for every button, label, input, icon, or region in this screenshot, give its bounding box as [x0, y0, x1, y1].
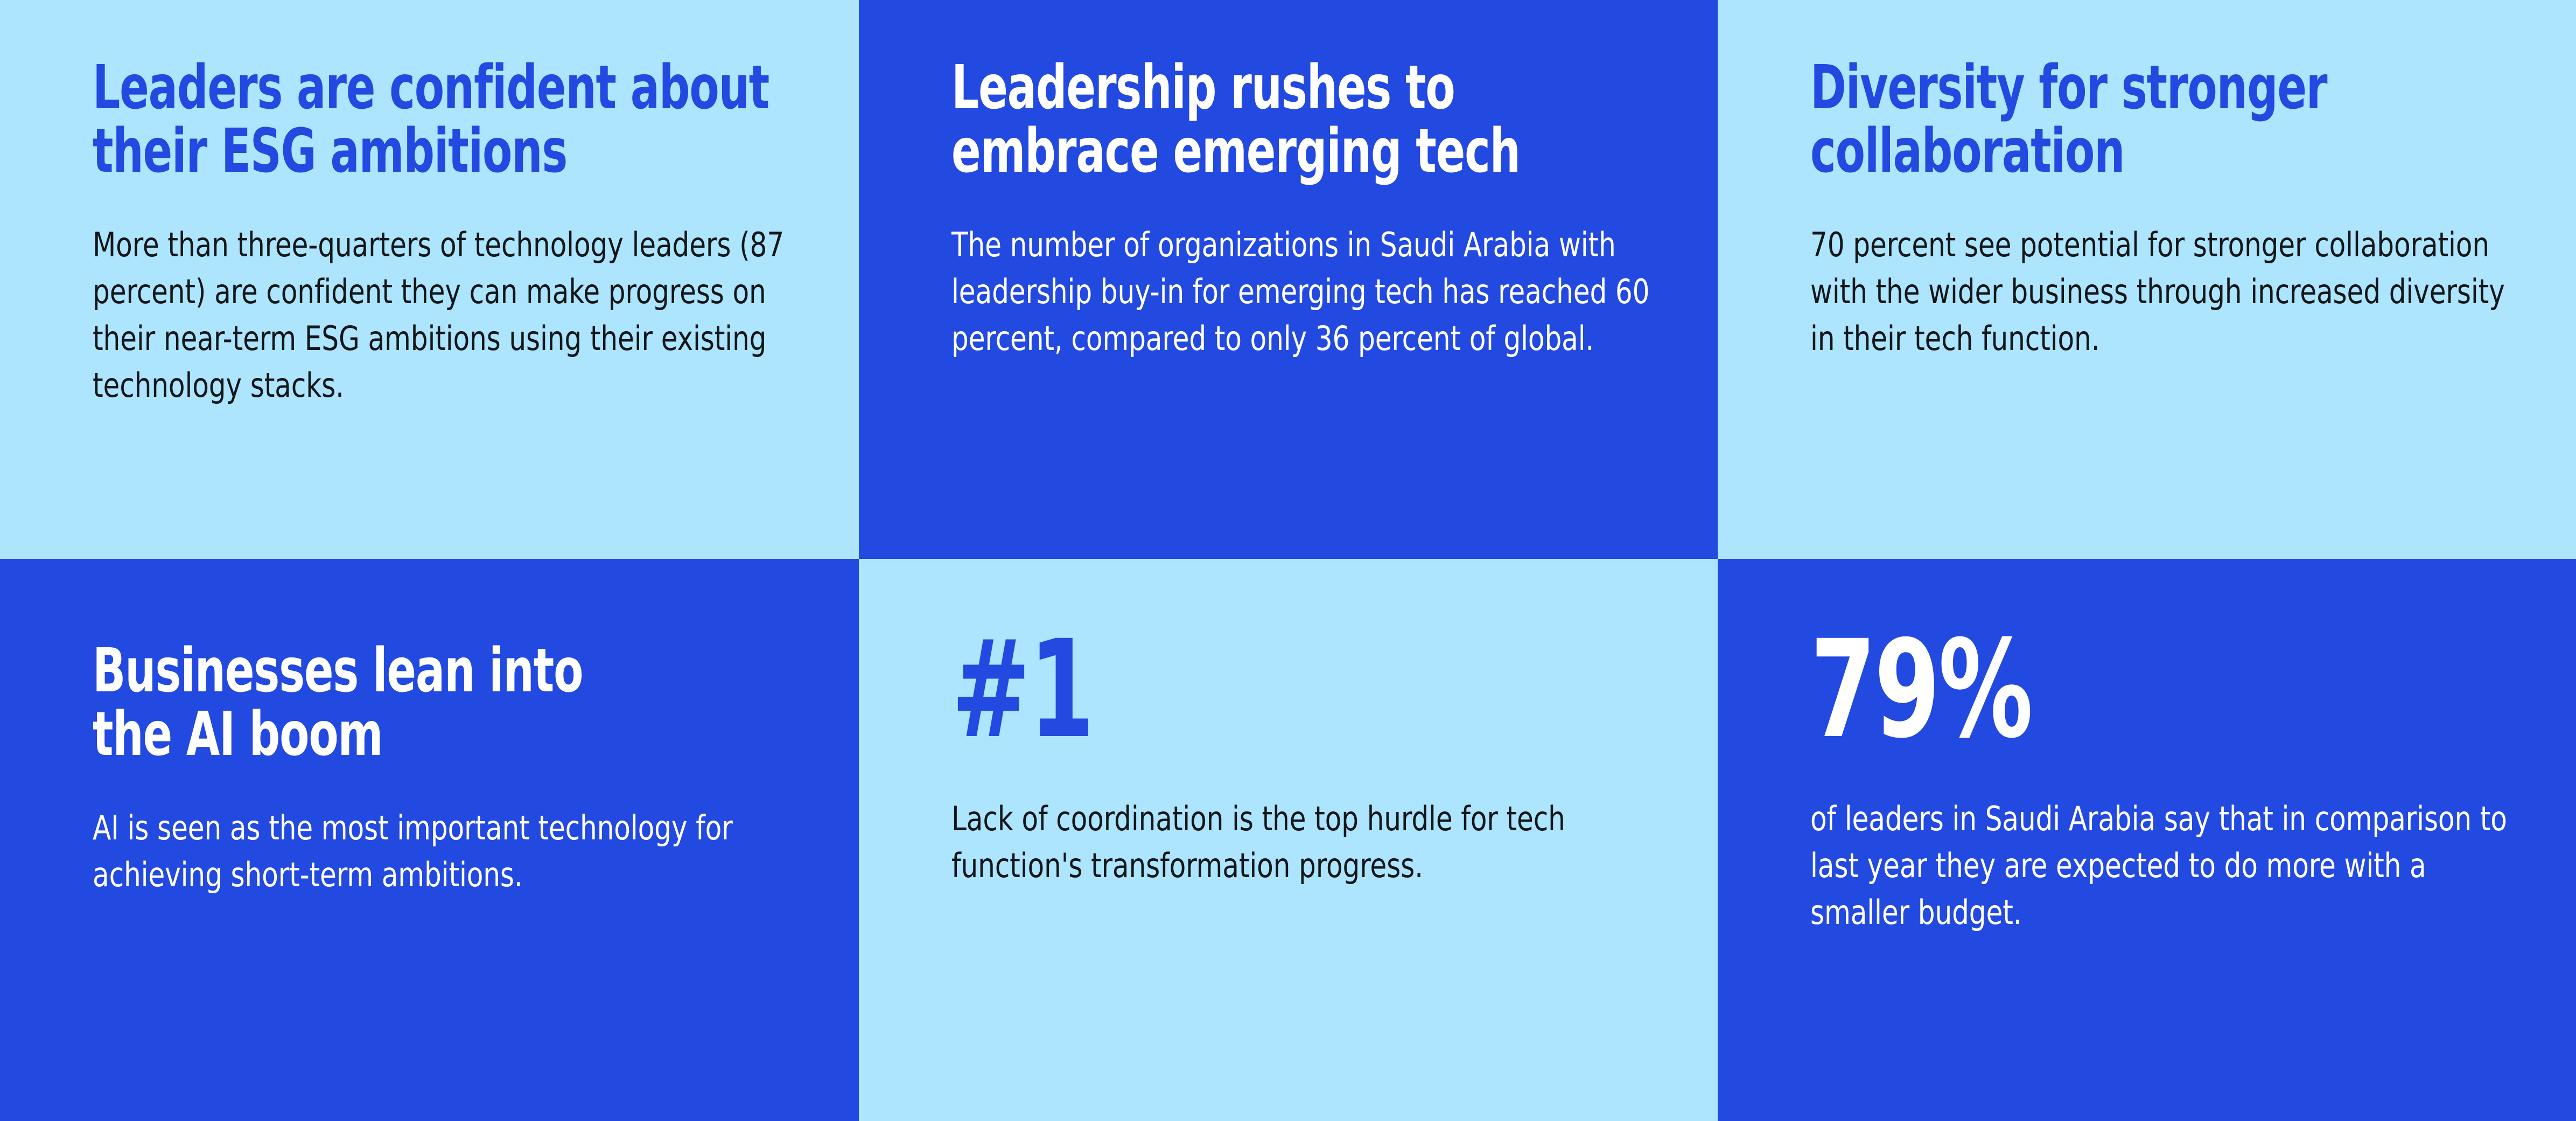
cell-body-text: AI is seen as the most important technol… [93, 805, 794, 899]
cell-body-text: More than three-quarters of technology l… [93, 222, 794, 409]
stat-cell-esg-ambitions: Leaders are confident about their ESG am… [0, 0, 859, 559]
cell-body-text: Lack of coordination is the top hurdle f… [951, 796, 1653, 889]
infographic-grid: Leaders are confident about their ESG am… [0, 0, 2576, 1121]
cell-body-text: 70 percent see potential for stronger co… [1810, 222, 2511, 362]
stat-cell-top-hurdle: #1 Lack of coordination is the top hurdl… [859, 559, 1718, 1121]
cell-body-text: of leaders in Saudi Arabia say that in c… [1810, 796, 2511, 936]
cell-heading: Leadership rushes to embrace emerging te… [951, 57, 1653, 183]
stat-number: #1 [951, 622, 1652, 757]
stat-cell-diversity-collaboration: Diversity for stronger collaboration 70 … [1718, 0, 2576, 559]
cell-heading: Diversity for stronger collaboration [1810, 57, 2511, 183]
cell-heading: Leaders are confident about their ESG am… [93, 57, 794, 183]
stat-cell-emerging-tech: Leadership rushes to embrace emerging te… [859, 0, 1718, 559]
cell-heading: Businesses lean into the AI boom [93, 640, 794, 766]
stat-number: 79% [1810, 622, 2510, 757]
cell-body-text: The number of organizations in Saudi Ara… [951, 222, 1653, 362]
stat-cell-ai-boom: Businesses lean into the AI boom AI is s… [0, 559, 859, 1121]
stat-cell-smaller-budget: 79% of leaders in Saudi Arabia say that … [1718, 559, 2576, 1121]
